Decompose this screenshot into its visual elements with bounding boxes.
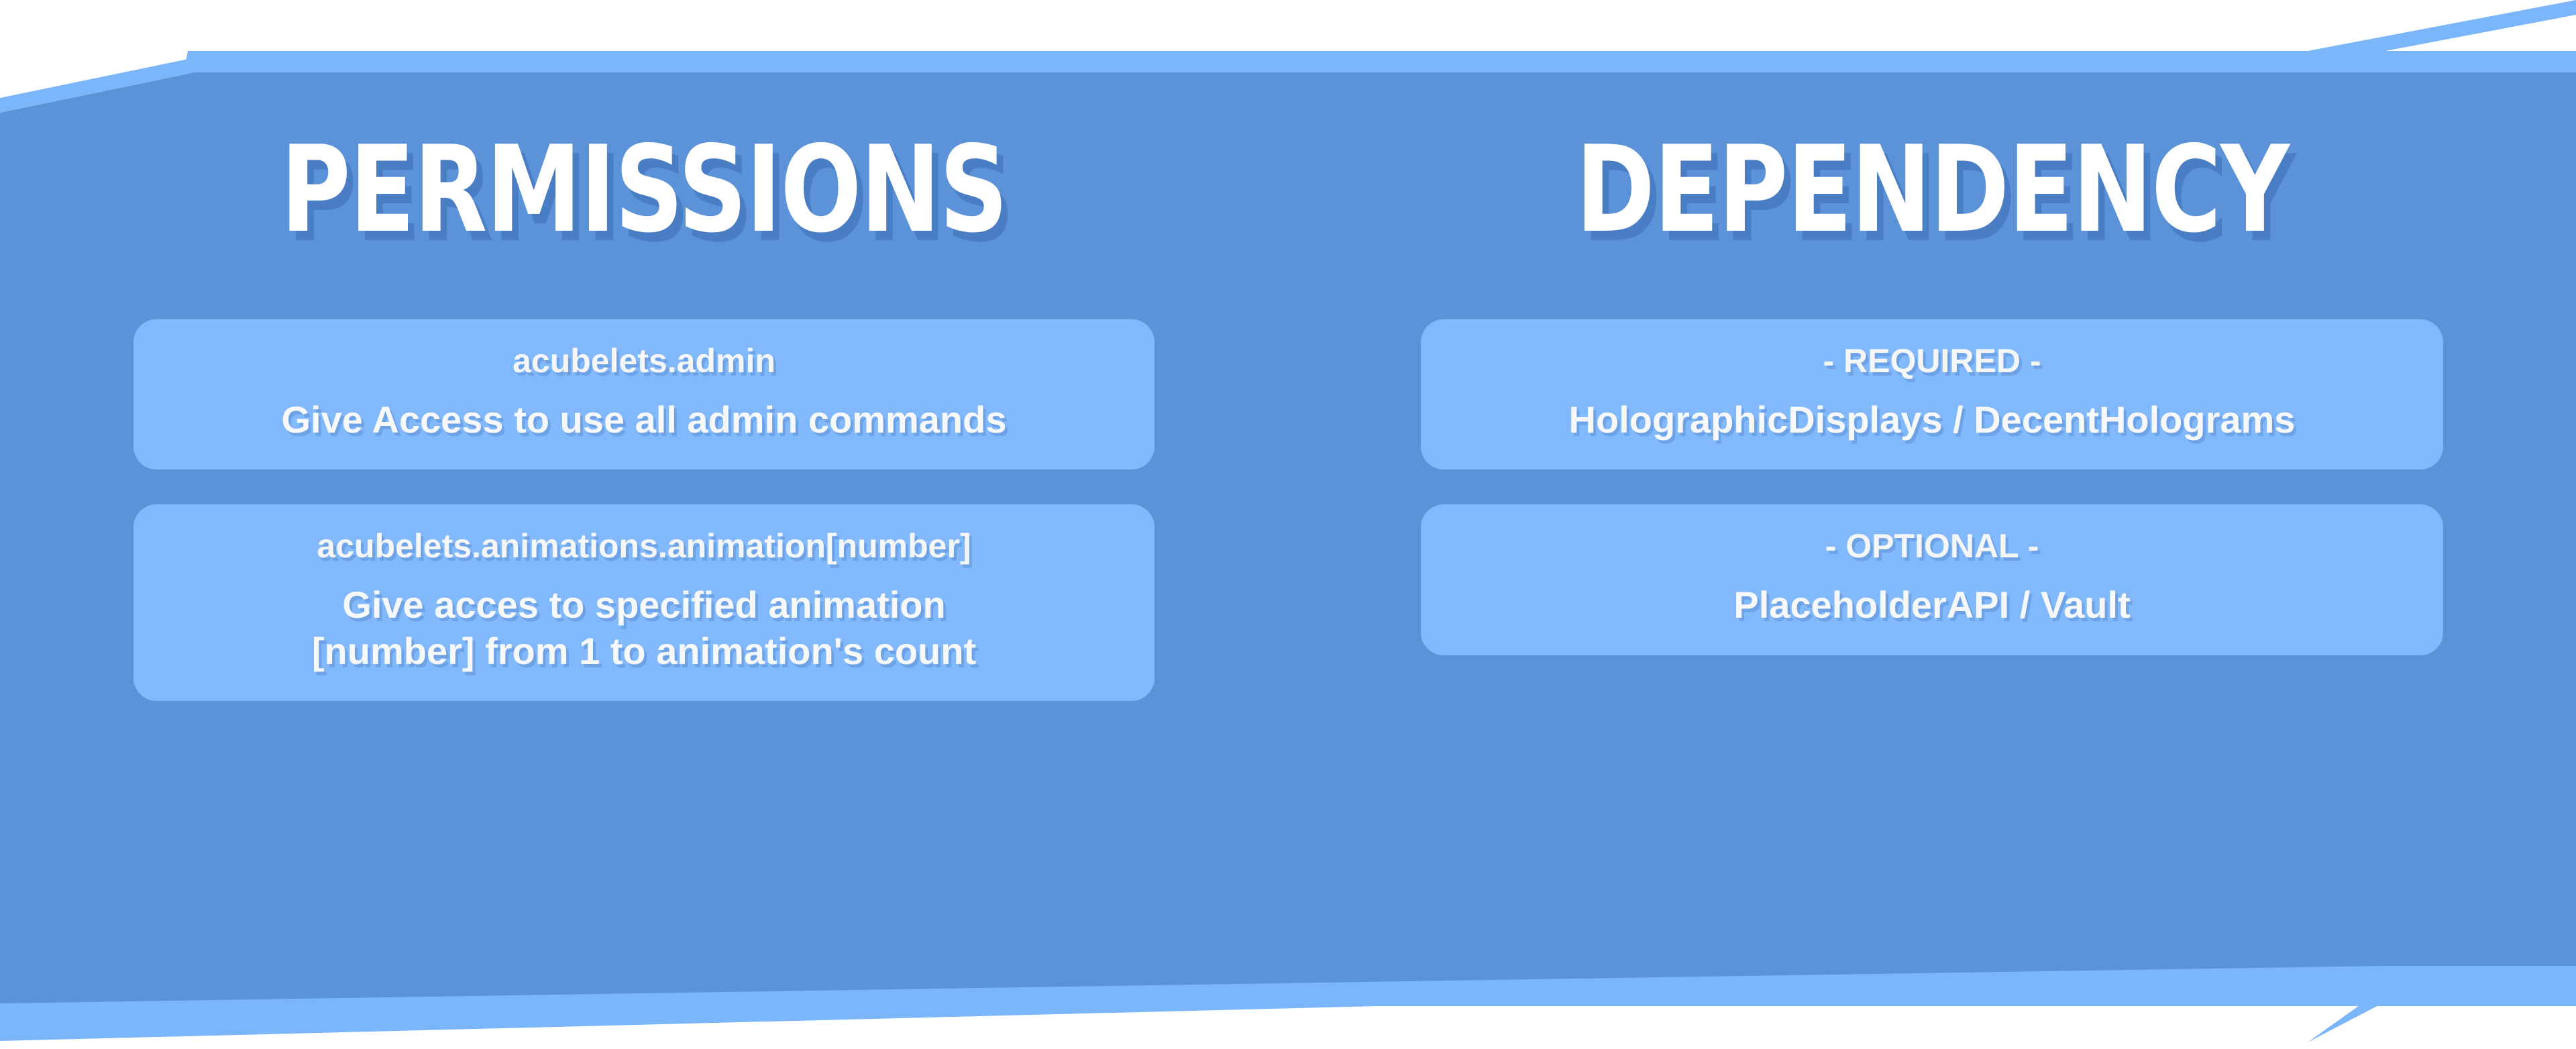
info-banner: PERMISSIONS acubelets.admin Give Access … xyxy=(0,0,2576,1049)
dependency-heading: DEPENDENCY xyxy=(1576,130,2289,250)
dependency-required-plugins: HolographicDisplays / DecentHolograms xyxy=(1569,397,2296,443)
dependency-card-optional: - OPTIONAL - PlaceholderAPI / Vault xyxy=(1421,504,2443,655)
permissions-heading: PERMISSIONS xyxy=(281,130,1008,250)
dependency-optional-plugins: PlaceholderAPI / Vault xyxy=(1733,582,2130,628)
permissions-card-list: acubelets.admin Give Access to use all a… xyxy=(133,319,1155,701)
permission-card-admin: acubelets.admin Give Access to use all a… xyxy=(133,319,1155,470)
dependency-optional-label: - OPTIONAL - xyxy=(1825,527,2039,565)
permission-description-line: [number] from 1 to animation's count xyxy=(312,628,976,674)
banner-columns: PERMISSIONS acubelets.admin Give Access … xyxy=(0,0,2576,1049)
permission-description-line: Give Access to use all admin commands xyxy=(281,397,1006,443)
permission-description-line: Give acces to specified animation xyxy=(312,582,976,628)
permission-node-label: acubelets.animations.animation[number] xyxy=(317,527,971,565)
dependency-column: DEPENDENCY - REQUIRED - HolographicDispl… xyxy=(1288,0,2576,1049)
permission-description: Give acces to specified animation [numbe… xyxy=(312,582,976,674)
dependency-card-list: - REQUIRED - HolographicDisplays / Decen… xyxy=(1421,319,2443,655)
dependency-card-required: - REQUIRED - HolographicDisplays / Decen… xyxy=(1421,319,2443,470)
dependency-plugin-line: HolographicDisplays / DecentHolograms xyxy=(1569,397,2296,443)
permission-description: Give Access to use all admin commands xyxy=(281,397,1006,443)
dependency-required-label: - REQUIRED - xyxy=(1823,342,2041,380)
permission-node-label: acubelets.admin xyxy=(513,342,775,380)
dependency-plugin-line: PlaceholderAPI / Vault xyxy=(1733,582,2130,628)
permission-card-animations: acubelets.animations.animation[number] G… xyxy=(133,504,1155,701)
dependency-heading-wrap: DEPENDENCY xyxy=(1487,119,2377,260)
permissions-column: PERMISSIONS acubelets.admin Give Access … xyxy=(0,0,1288,1049)
permissions-heading-wrap: PERMISSIONS xyxy=(190,119,1098,260)
